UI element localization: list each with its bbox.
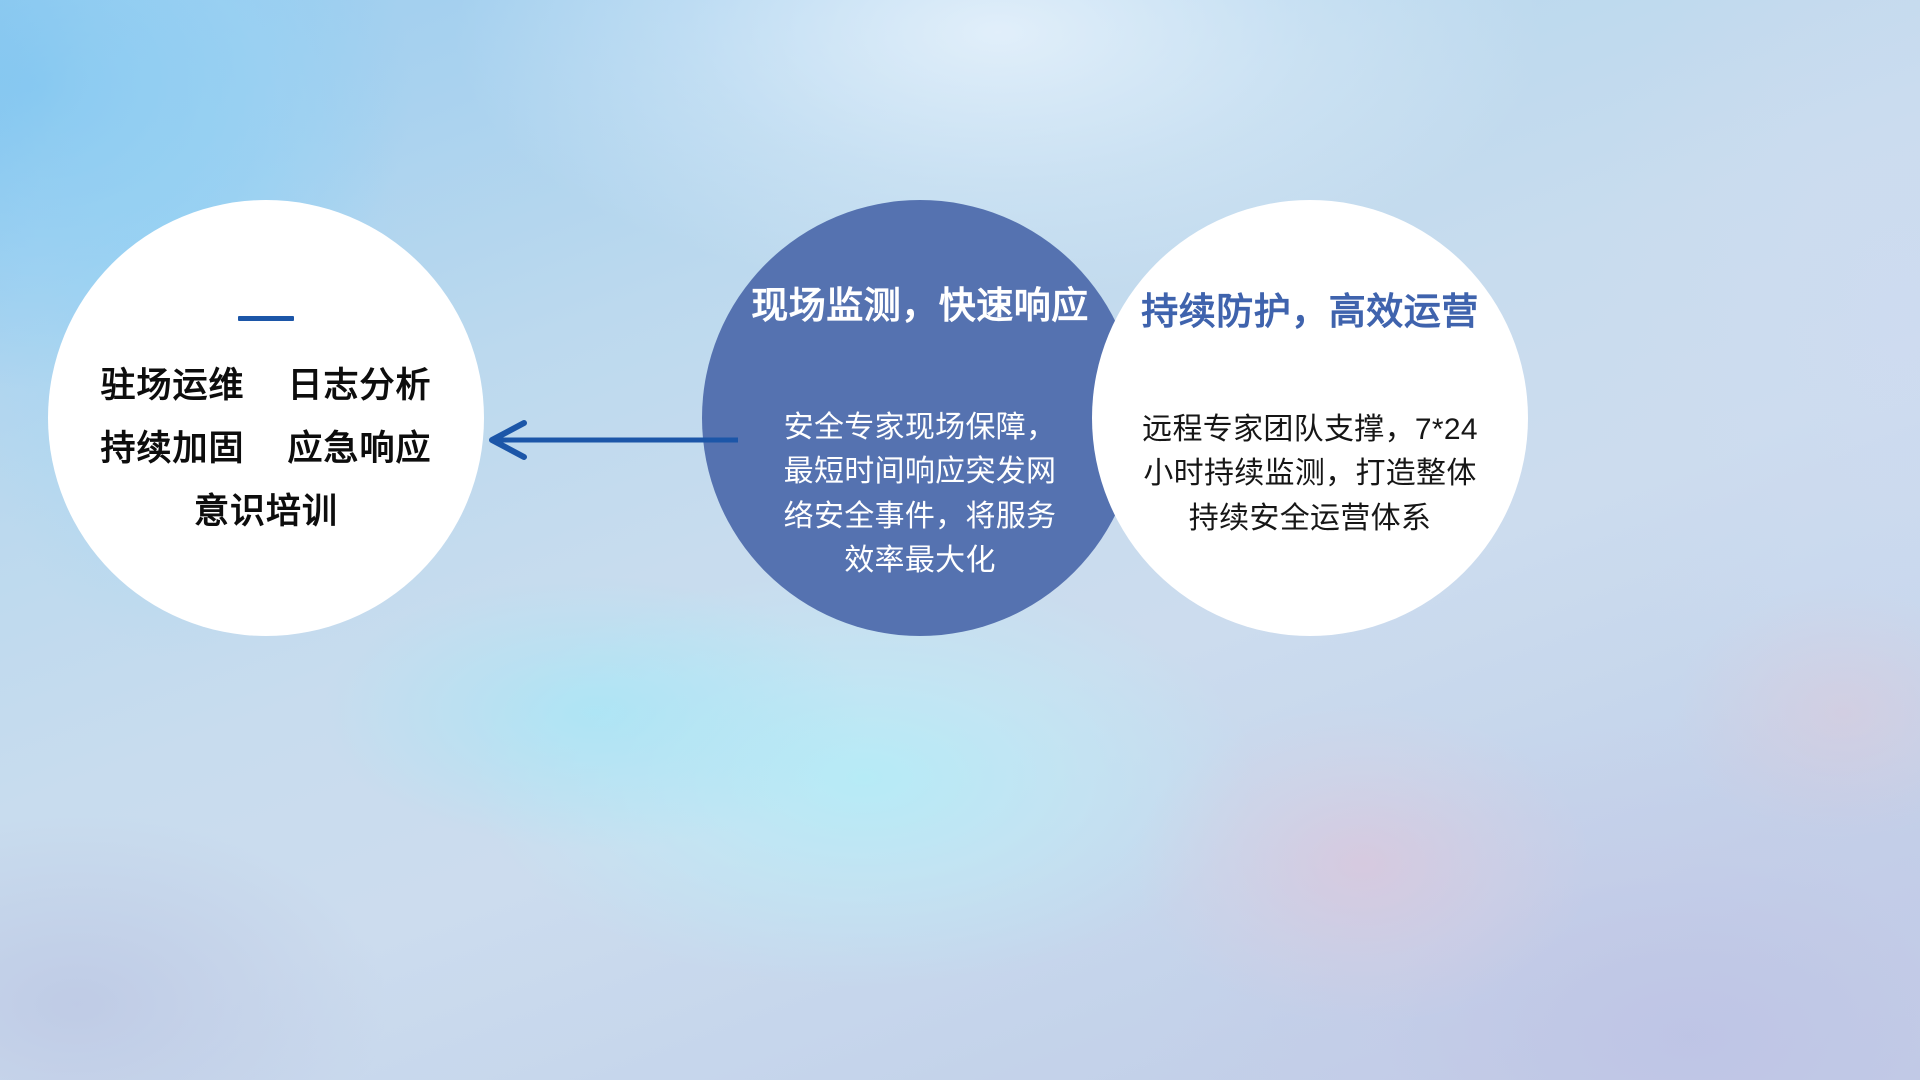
onsite-monitoring-title: 现场监测，快速响应 bbox=[702, 286, 1138, 327]
capability-tags-list: 驻场运维 日志分析 持续加固 应急响应 意识培训 bbox=[48, 368, 484, 529]
continuous-protection-body: 远程专家团队支撑，7*24 小时持续监测，打造整体 持续安全运营体系 bbox=[1092, 408, 1528, 541]
capability-tag-line-2: 持续加固 应急响应 bbox=[48, 431, 484, 466]
onsite-monitoring-body-line-2: 最短时间响应突发网 bbox=[702, 450, 1138, 494]
continuous-protection-body-line-3: 持续安全运营体系 bbox=[1092, 497, 1528, 541]
onsite-monitoring-circle[interactable]: 现场监测，快速响应 安全专家现场保障， 最短时间响应突发网 络安全事件，将服务 … bbox=[702, 200, 1138, 636]
continuous-protection-title: 持续防护，高效运营 bbox=[1092, 292, 1528, 333]
flow-arrow-left bbox=[480, 410, 740, 470]
onsite-monitoring-body-line-3: 络安全事件，将服务 bbox=[702, 495, 1138, 539]
continuous-protection-body-line-2: 小时持续监测，打造整体 bbox=[1092, 452, 1528, 496]
divider-dash bbox=[48, 316, 484, 321]
slide-canvas: 驻场运维 日志分析 持续加固 应急响应 意识培训 现场监测，快速响应 安全专家现… bbox=[0, 0, 1920, 1080]
continuous-protection-body-line-1: 远程专家团队支撑，7*24 bbox=[1092, 408, 1528, 452]
continuous-protection-circle[interactable]: 持续防护，高效运营 远程专家团队支撑，7*24 小时持续监测，打造整体 持续安全… bbox=[1092, 200, 1528, 636]
capability-tag-line-3: 意识培训 bbox=[48, 494, 484, 529]
capability-tags-circle[interactable]: 驻场运维 日志分析 持续加固 应急响应 意识培训 bbox=[48, 200, 484, 636]
capability-tag-line-1: 驻场运维 日志分析 bbox=[48, 368, 484, 403]
onsite-monitoring-body: 安全专家现场保障， 最短时间响应突发网 络安全事件，将服务 效率最大化 bbox=[702, 406, 1138, 584]
onsite-monitoring-body-line-1: 安全专家现场保障， bbox=[702, 406, 1138, 450]
flow-arrow-left-icon bbox=[480, 410, 740, 470]
onsite-monitoring-body-line-4: 效率最大化 bbox=[702, 539, 1138, 583]
